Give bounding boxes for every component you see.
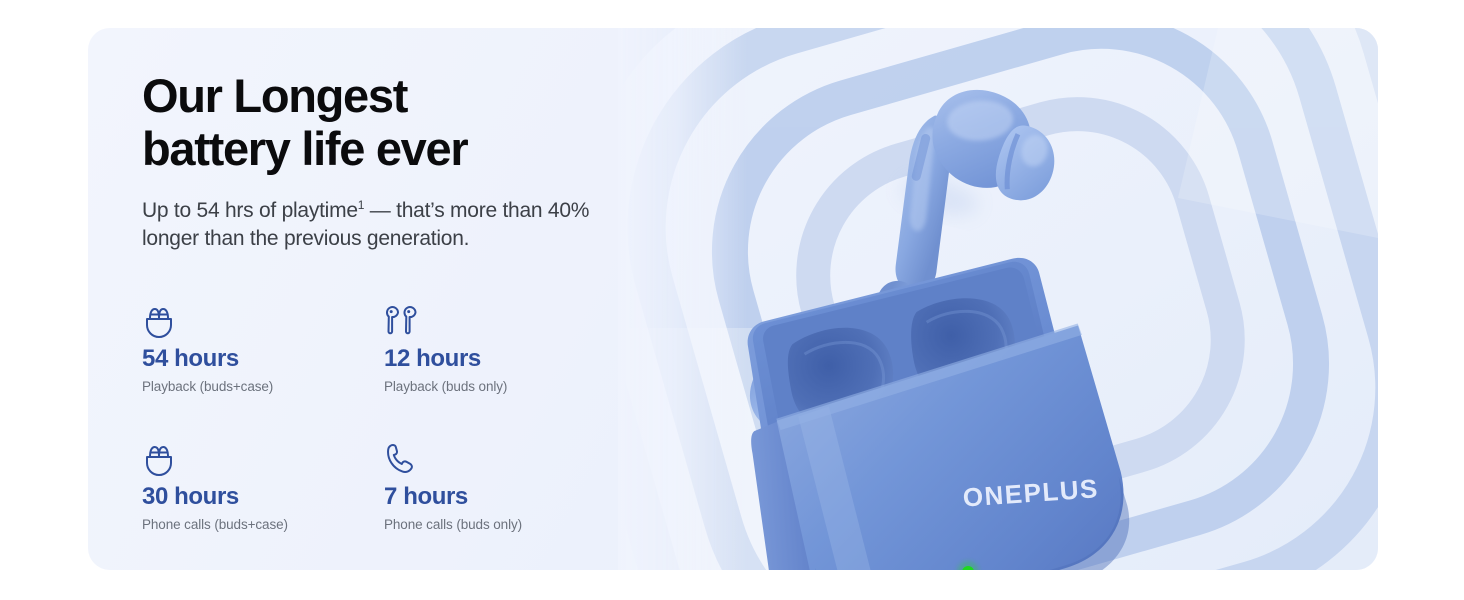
- stat-value: 30 hours: [142, 484, 370, 510]
- text-column: Our Longest battery life ever Up to 54 h…: [142, 70, 662, 254]
- stat-item: 30 hours Phone calls (buds+case): [142, 438, 370, 534]
- stat-item: 12 hours Playback (buds only): [384, 300, 612, 396]
- earbuds-case-icon: [142, 300, 370, 338]
- page-title: Our Longest battery life ever: [142, 70, 662, 175]
- product-image: ONEPLUS: [618, 28, 1378, 570]
- stat-value: 54 hours: [142, 346, 370, 372]
- phone-handset-icon: [384, 438, 612, 476]
- promo-banner: ONEPLUS Our Longest battery life ever Up…: [0, 0, 1464, 600]
- stat-label: Phone calls (buds only): [384, 517, 612, 533]
- earbuds-case-icon: [142, 438, 370, 476]
- stats-grid: 54 hours Playback (buds+case) 12 hours P…: [142, 300, 612, 533]
- stat-item: 54 hours Playback (buds+case): [142, 300, 370, 396]
- stat-label: Playback (buds+case): [142, 379, 370, 395]
- subtitle: Up to 54 hrs of playtime1 — that’s more …: [142, 197, 632, 253]
- earbuds-pair-icon: [384, 300, 612, 338]
- stat-label: Playback (buds only): [384, 379, 612, 395]
- stat-value: 12 hours: [384, 346, 612, 372]
- stat-item: 7 hours Phone calls (buds only): [384, 438, 612, 534]
- feature-card: ONEPLUS Our Longest battery life ever Up…: [88, 28, 1378, 570]
- stat-value: 7 hours: [384, 484, 612, 510]
- stat-label: Phone calls (buds+case): [142, 517, 370, 533]
- subtitle-part-1: Up to 54 hrs of playtime: [142, 199, 358, 222]
